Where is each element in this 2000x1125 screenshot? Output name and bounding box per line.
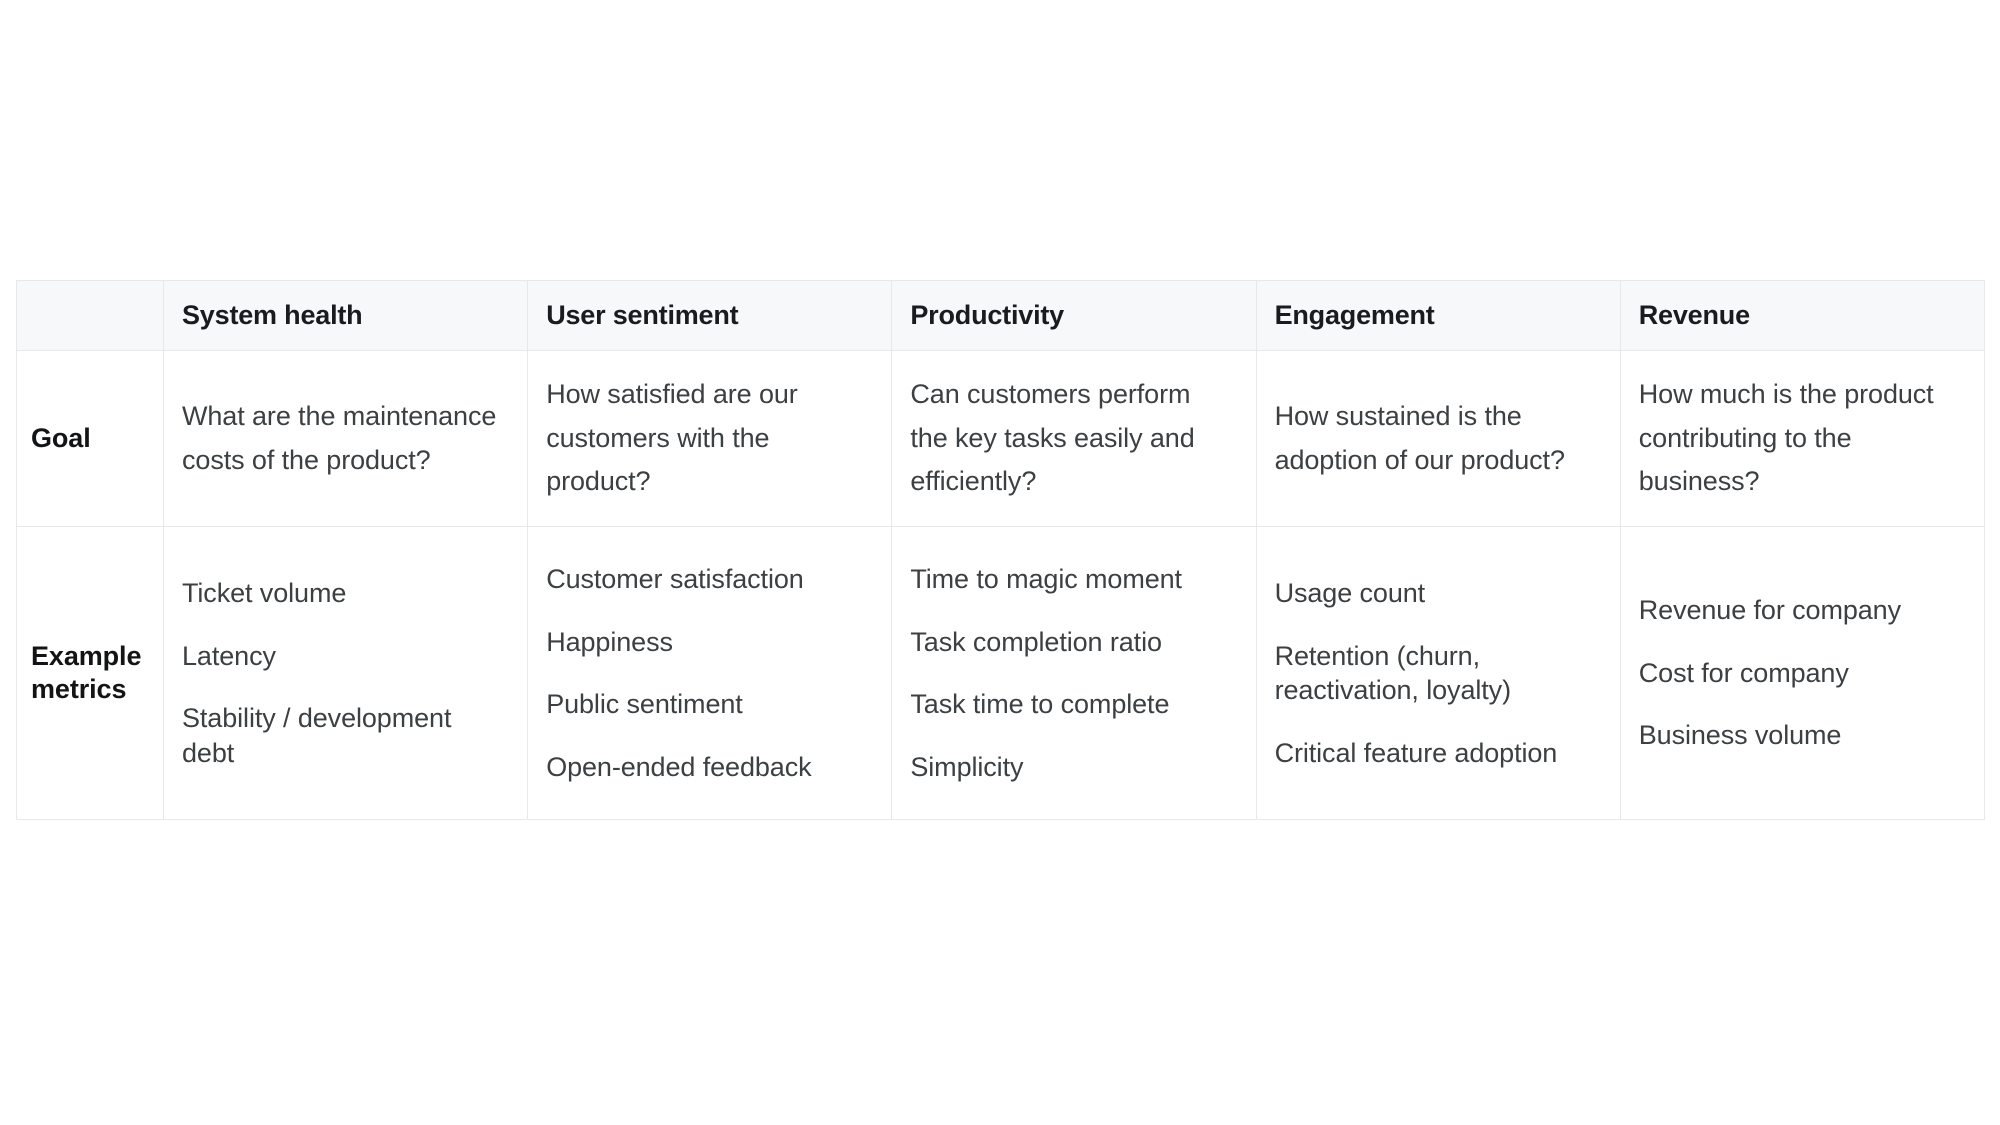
row-label-goal: Goal — [17, 351, 164, 527]
list-item: Happiness — [546, 625, 865, 660]
metric-list: Revenue for company Cost for company Bus… — [1639, 593, 1958, 753]
list-item: Business volume — [1639, 718, 1958, 753]
table-row-example-metrics: Example metrics Ticket volume Latency St… — [17, 527, 1985, 820]
list-item: Task time to complete — [910, 687, 1229, 722]
cell-metrics-user-sentiment: Customer satisfaction Happiness Public s… — [528, 527, 892, 820]
list-item: Task completion ratio — [910, 625, 1229, 660]
metric-list: Customer satisfaction Happiness Public s… — [546, 562, 865, 784]
cell-goal-user-sentiment: How satisfied are our customers with the… — [528, 351, 892, 527]
cell-text: How satisfied are our customers with the… — [546, 373, 865, 504]
cell-metrics-revenue: Revenue for company Cost for company Bus… — [1620, 527, 1984, 820]
header-corner-cell — [17, 281, 164, 351]
list-item: Stability / development debt — [182, 701, 501, 770]
metric-list: Usage count Retention (churn, reactivati… — [1275, 576, 1594, 770]
metric-list: Time to magic moment Task completion rat… — [910, 562, 1229, 784]
list-item: Usage count — [1275, 576, 1594, 611]
column-header-productivity: Productivity — [892, 281, 1256, 351]
list-item: Critical feature adoption — [1275, 736, 1594, 771]
list-item: Customer satisfaction — [546, 562, 865, 597]
column-header-revenue: Revenue — [1620, 281, 1984, 351]
table-row-goal: Goal What are the maintenance costs of t… — [17, 351, 1985, 527]
cell-metrics-productivity: Time to magic moment Task completion rat… — [892, 527, 1256, 820]
metrics-table-container: System health User sentiment Productivit… — [16, 280, 1984, 820]
column-header-system-health: System health — [164, 281, 528, 351]
row-label-example-metrics: Example metrics — [17, 527, 164, 820]
table-header: System health User sentiment Productivit… — [17, 281, 1985, 351]
list-item: Revenue for company — [1639, 593, 1958, 628]
list-item: Public sentiment — [546, 687, 865, 722]
list-item: Ticket volume — [182, 576, 501, 611]
cell-text: Can customers perform the key tasks easi… — [910, 373, 1229, 504]
list-item: Latency — [182, 639, 501, 674]
column-header-engagement: Engagement — [1256, 281, 1620, 351]
product-metrics-framework-table: System health User sentiment Productivit… — [16, 280, 1985, 820]
table-body: Goal What are the maintenance costs of t… — [17, 351, 1985, 820]
cell-text: How much is the product contributing to … — [1639, 373, 1958, 504]
cell-goal-system-health: What are the maintenance costs of the pr… — [164, 351, 528, 527]
cell-text: What are the maintenance costs of the pr… — [182, 395, 501, 482]
cell-text: How sustained is the adoption of our pro… — [1275, 395, 1594, 482]
cell-metrics-engagement: Usage count Retention (churn, reactivati… — [1256, 527, 1620, 820]
cell-goal-engagement: How sustained is the adoption of our pro… — [1256, 351, 1620, 527]
cell-goal-revenue: How much is the product contributing to … — [1620, 351, 1984, 527]
list-item: Cost for company — [1639, 656, 1958, 691]
column-header-user-sentiment: User sentiment — [528, 281, 892, 351]
list-item: Retention (churn, reactivation, loyalty) — [1275, 639, 1594, 708]
cell-metrics-system-health: Ticket volume Latency Stability / develo… — [164, 527, 528, 820]
list-item: Simplicity — [910, 750, 1229, 785]
header-row: System health User sentiment Productivit… — [17, 281, 1985, 351]
cell-goal-productivity: Can customers perform the key tasks easi… — [892, 351, 1256, 527]
page-canvas: System health User sentiment Productivit… — [0, 0, 2000, 1125]
list-item: Time to magic moment — [910, 562, 1229, 597]
metric-list: Ticket volume Latency Stability / develo… — [182, 576, 501, 770]
list-item: Open-ended feedback — [546, 750, 865, 785]
